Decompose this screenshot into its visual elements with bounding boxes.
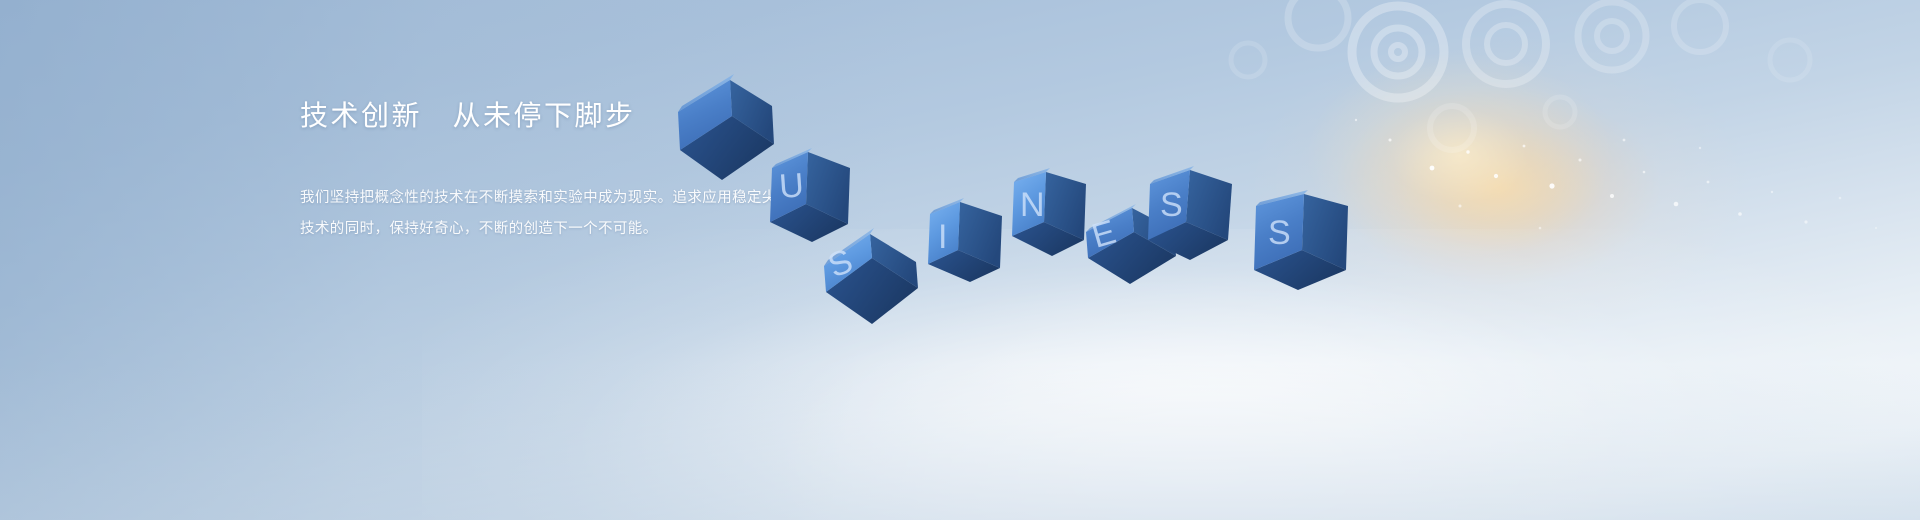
keycap-s2: S bbox=[1144, 162, 1238, 270]
keycap-n: N bbox=[1008, 168, 1090, 264]
keycap-s3-glyph: S bbox=[1268, 214, 1291, 252]
keycap-s3: S bbox=[1246, 186, 1354, 298]
keycap-i: I bbox=[924, 198, 1008, 290]
keycap-u-glyph: U bbox=[778, 166, 805, 206]
keycap-s1: S bbox=[818, 218, 926, 334]
keycap-s2-glyph: S bbox=[1160, 186, 1183, 224]
keycap-n-glyph: N bbox=[1020, 186, 1045, 224]
floating-keycaps: U S I bbox=[0, 0, 1920, 520]
hero-banner: 技术创新 从未停下脚步 我们坚持把概念性的技术在不断摸索和实验中成为现实。追求应… bbox=[0, 0, 1920, 520]
keycap-i-glyph: I bbox=[938, 218, 947, 256]
